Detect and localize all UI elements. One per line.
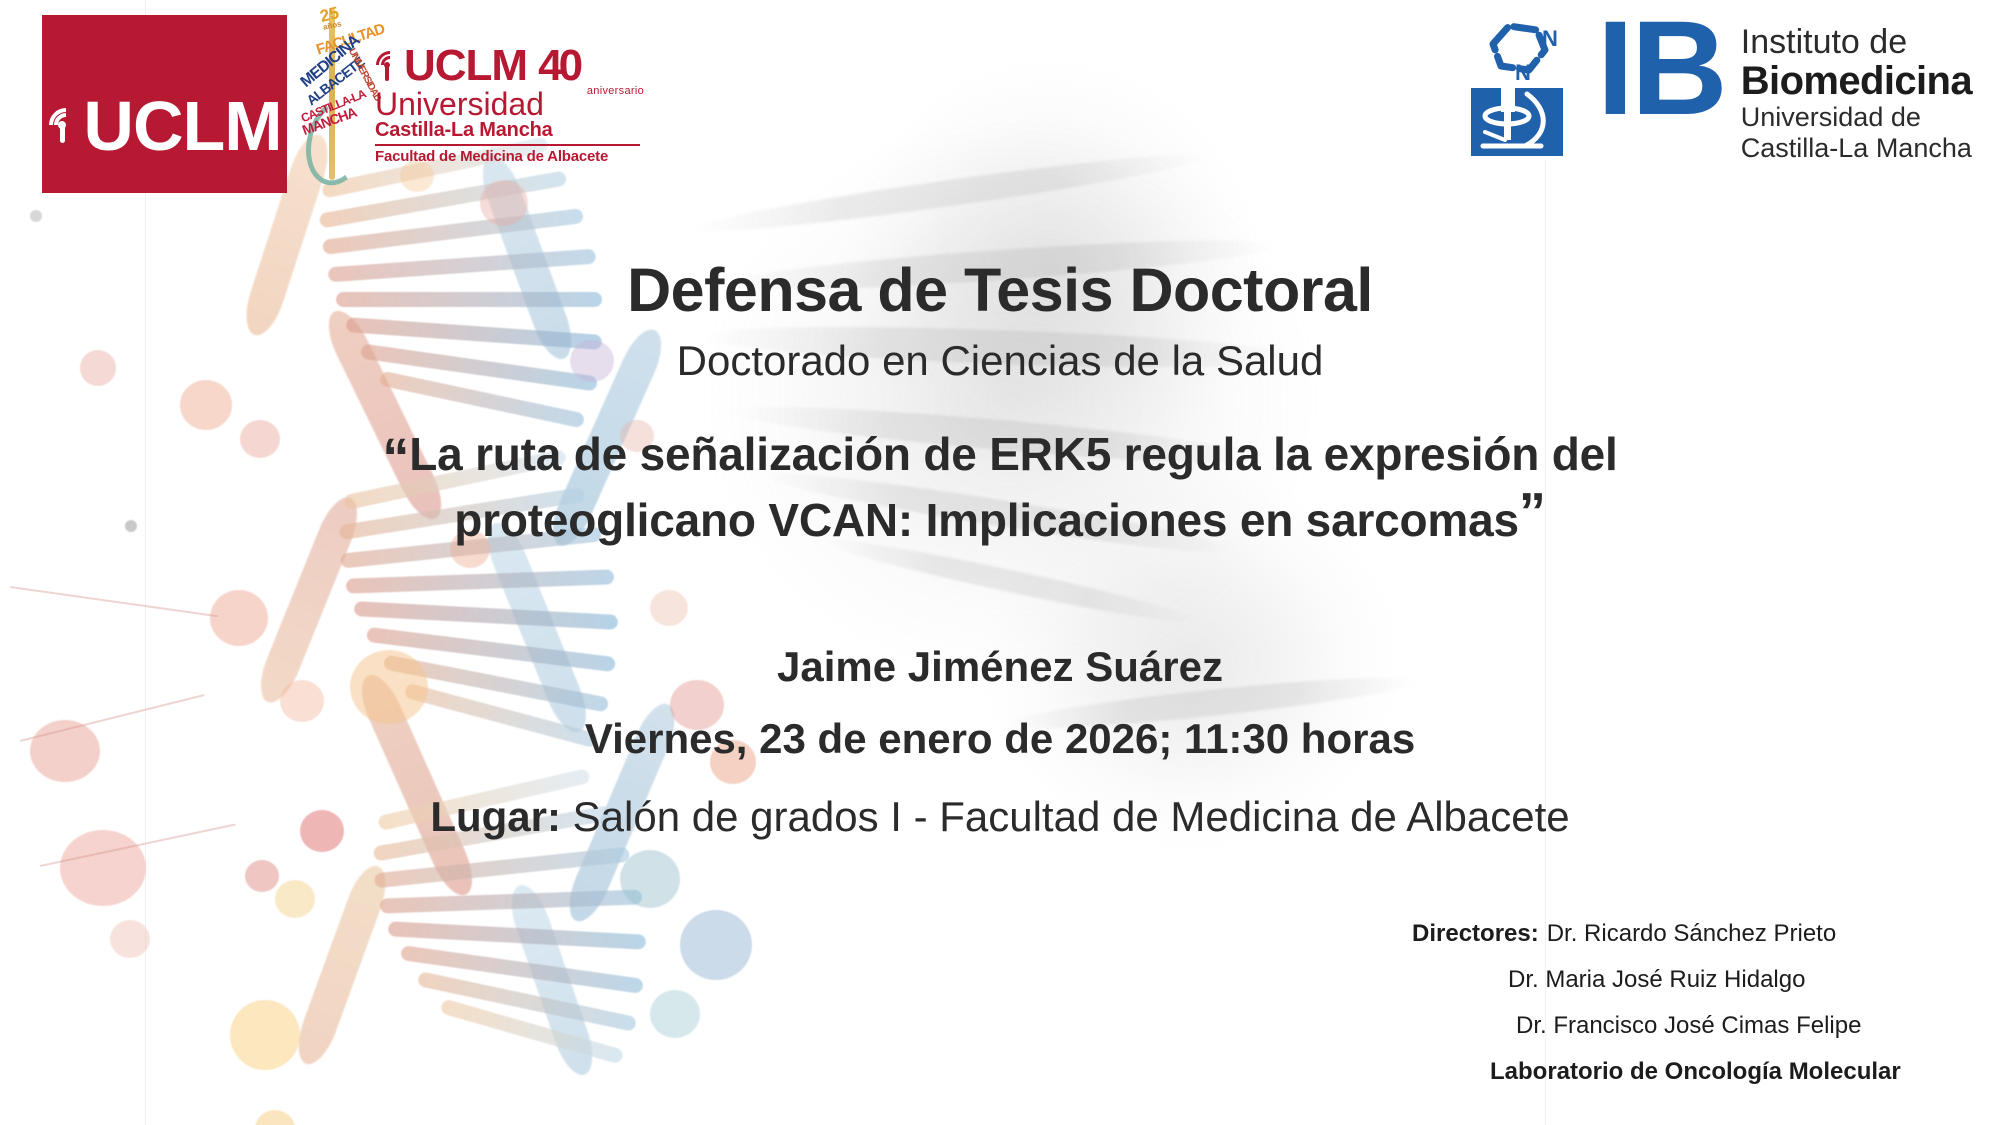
helix-strand	[290, 861, 394, 1070]
base-pair-rung	[400, 945, 644, 994]
base-pair-rung	[388, 921, 646, 949]
base-pair-rung	[374, 847, 630, 889]
uclm-beacon-icon	[375, 50, 399, 83]
director-row: Dr. Francisco José Cimas Felipe	[1412, 1012, 1952, 1040]
uclm-logo-mark: UCLM	[42, 15, 287, 193]
paint-blob	[245, 860, 279, 892]
anniversary-number: 40	[538, 45, 579, 87]
paint-blob	[275, 880, 315, 918]
tether-line	[10, 586, 218, 617]
thesis-title-text-2: proteoglicano VCAN: Implicaciones en sar…	[454, 494, 1519, 546]
uclm-faculty-label: Facultad de Medicina de Albacete	[375, 148, 640, 165]
uclm-acronym: UCLM	[404, 45, 527, 87]
paint-blob	[230, 1000, 300, 1070]
ib-line-biomedicina: Biomedicina	[1741, 61, 1972, 103]
anniversary-label: aniversario	[587, 85, 644, 97]
base-pair-rung	[346, 569, 614, 593]
base-pair-rung	[417, 971, 637, 1032]
uclm-beacon-icon	[47, 106, 77, 146]
paint-blob	[620, 850, 680, 908]
paint-blob	[680, 910, 752, 980]
helix-strand	[353, 668, 482, 901]
laboratory-name: Laboratorio de Oncología Molecular	[1412, 1058, 1952, 1086]
paint-blob	[210, 590, 268, 646]
paint-blob	[60, 830, 146, 906]
ib-text-block: Instituto de Biomedicina Universidad de …	[1741, 18, 1972, 164]
uclm-divider	[375, 144, 640, 146]
uclm-logo-letters: UCLM	[83, 91, 281, 161]
quote-open: “	[382, 428, 409, 488]
ib-line-universidad: Universidad de	[1741, 102, 1972, 133]
faculty-of-medicine-emblem-icon: 25 años FACULTAD MEDICINA ALBACETE UNIVE…	[293, 2, 371, 184]
ib-letters: IB	[1597, 18, 1725, 120]
thesis-defense-poster: UCLM 25 años FACULTAD MEDICINA ALBACETE …	[0, 0, 2000, 1125]
svg-text:N: N	[1515, 60, 1531, 85]
paint-blob	[255, 1110, 295, 1125]
director-row: Directores:Dr. Ricardo Sánchez Prieto	[1412, 920, 1952, 948]
helix-strand	[479, 517, 595, 738]
defense-place: Lugar: Salón de grados I - Facultad de M…	[0, 793, 2000, 841]
svg-text:N: N	[1542, 26, 1558, 51]
base-pair-rung	[440, 998, 625, 1064]
uclm-region-label: Castilla-La Mancha	[375, 120, 640, 141]
director-name-2: Dr. Maria José Ruiz Hidalgo	[1508, 966, 1805, 993]
programme-subtitle: Doctorado en Ciencias de la Salud	[0, 337, 2000, 385]
base-pair-rung	[380, 889, 642, 913]
thesis-title-line-2: proteoglicano VCAN: Implicaciones en sar…	[0, 493, 2000, 547]
paint-blob	[650, 590, 688, 626]
directors-label: Directores:	[1412, 920, 1539, 947]
ib-line-castilla: Castilla-La Mancha	[1741, 133, 1972, 164]
defense-datetime: Viernes, 23 de enero de 2026; 11:30 hora…	[0, 715, 2000, 763]
paint-blob	[110, 920, 150, 958]
director-name-1: Dr. Ricardo Sánchez Prieto	[1547, 920, 1836, 947]
base-pair-rung	[322, 208, 584, 255]
page-title: Defensa de Tesis Doctoral	[0, 255, 2000, 325]
paint-dot	[30, 210, 42, 222]
author-name: Jaime Jiménez Suárez	[0, 643, 2000, 691]
thesis-title-text-1: La ruta de señalización de ERK5 regula l…	[409, 428, 1617, 480]
place-value: Salón de grados I - Facultad de Medicina…	[573, 793, 1570, 840]
thesis-title-line-1: “La ruta de señalización de ERK5 regula …	[0, 427, 2000, 481]
instituto-biomedicina-logo: N N IB Instituto de Biomedicina Universi…	[1463, 18, 1972, 164]
director-name-3: Dr. Francisco José Cimas Felipe	[1516, 1012, 1861, 1039]
place-label: Lugar:	[430, 793, 561, 840]
paint-blob	[650, 990, 700, 1038]
ib-line-instituto: Instituto de	[1741, 24, 1972, 61]
uclm-wordmark: UCLM 40 aniversario Universidad Castilla…	[375, 45, 640, 165]
molecule-microscope-icon: N N	[1463, 18, 1581, 158]
directors-block: Directores:Dr. Ricardo Sánchez Prieto Dr…	[1412, 920, 1952, 1086]
logo-row: UCLM 25 años FACULTAD MEDICINA ALBACETE …	[0, 0, 2000, 205]
helix-strand	[503, 880, 600, 1080]
director-row: Dr. Maria José Ruiz Hidalgo	[1412, 966, 1952, 994]
paint-blob	[180, 380, 232, 430]
quote-close: ”	[1519, 482, 1546, 542]
base-pair-rung	[354, 601, 618, 630]
